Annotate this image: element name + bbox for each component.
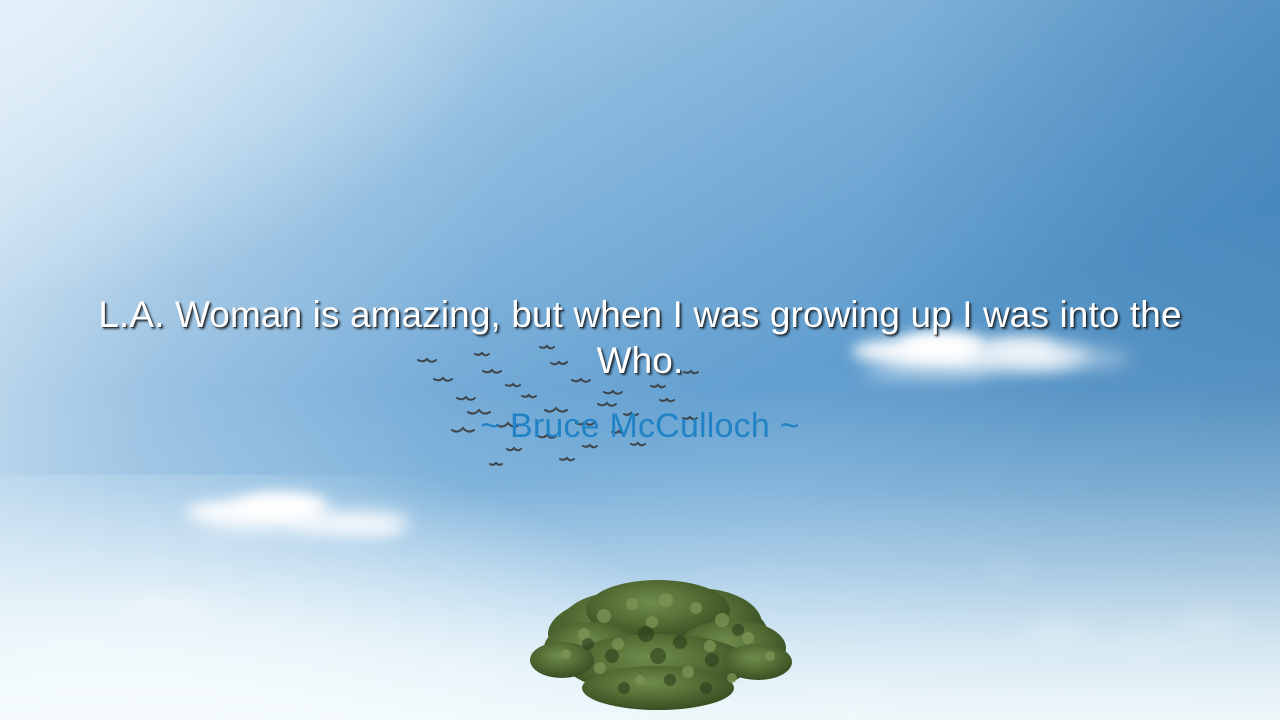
quote-image-card: L.A. Woman is amazing, but when I was gr… bbox=[0, 0, 1280, 720]
sky-highlight-top-left bbox=[0, 0, 486, 288]
quote-text-block: L.A. Woman is amazing, but when I was gr… bbox=[0, 292, 1280, 446]
tree bbox=[500, 560, 820, 720]
quote-body-text: L.A. Woman is amazing, but when I was gr… bbox=[70, 292, 1210, 384]
quote-author-attribution: ~ Bruce McCulloch ~ bbox=[70, 406, 1210, 446]
